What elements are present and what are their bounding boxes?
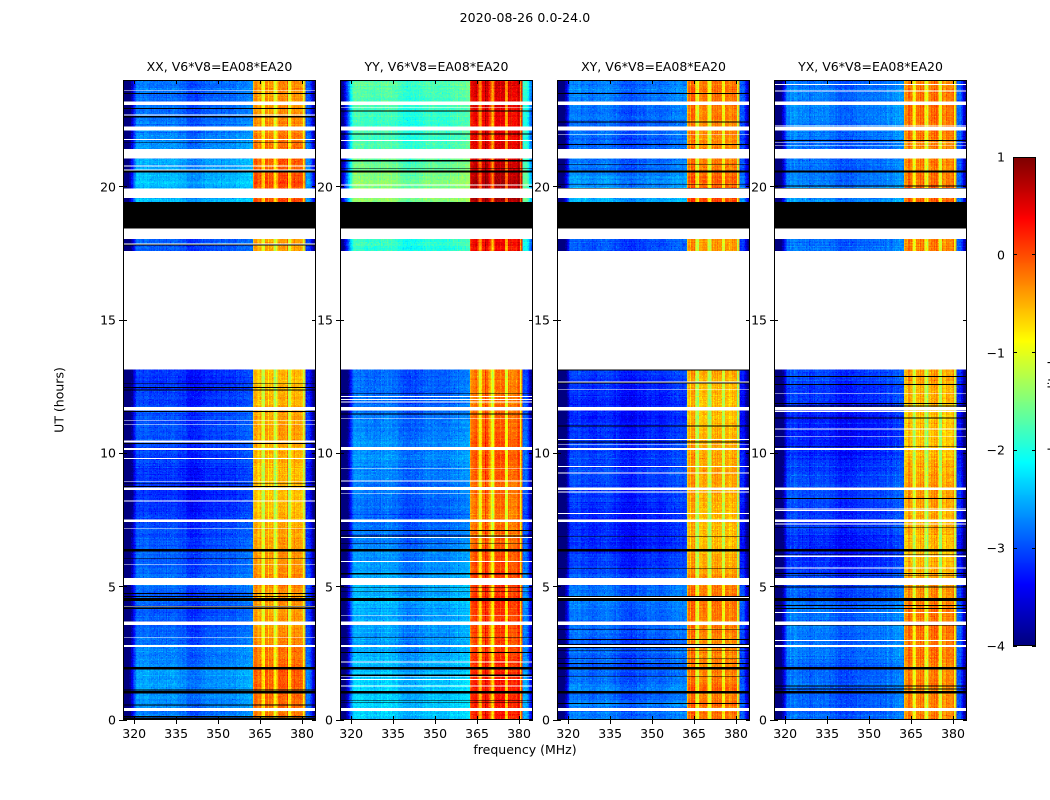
y-tick-label: 15 [100, 313, 116, 328]
x-tick-label: 335 [164, 726, 188, 741]
panel-title-yy: YY, V6*V8=EA08*EA20 [365, 59, 509, 74]
y-tick-label: 0 [759, 713, 767, 728]
x-tick-mark-inner [134, 716, 135, 720]
panel-title-xy: XY, V6*V8=EA08*EA20 [581, 59, 726, 74]
x-tick-mark [652, 720, 653, 724]
colorbar-tick-mark-left [1013, 352, 1017, 353]
y-tick-mark-right [529, 186, 533, 187]
x-tick-mark-top [176, 80, 177, 84]
colorbar-tick-mark-left [1013, 646, 1017, 647]
x-tick-label: 320 [339, 726, 363, 741]
colorbar-tick-label: −1 [987, 345, 1005, 360]
x-tick-mark [694, 720, 695, 724]
y-tick-mark-right [529, 453, 533, 454]
y-tick-mark-inner [774, 320, 778, 321]
colorbar-label: log10 amplitude [1045, 353, 1050, 451]
x-tick-mark-top [953, 80, 954, 84]
y-tick-mark-right [529, 720, 533, 721]
x-tick-label: 365 [248, 726, 272, 741]
y-tick-label: 0 [542, 713, 550, 728]
colorbar-tick-mark-right [1032, 352, 1036, 353]
y-tick-label: 10 [100, 446, 116, 461]
y-tick-mark-right [963, 586, 967, 587]
y-tick-label: 20 [100, 179, 116, 194]
x-tick-mark-top [435, 80, 436, 84]
x-tick-mark [736, 720, 737, 724]
x-tick-mark-inner [260, 716, 261, 720]
y-tick-mark-inner [123, 453, 127, 454]
y-tick-mark-inner [557, 586, 561, 587]
colorbar-tick-mark-left [1013, 450, 1017, 451]
x-tick-label: 380 [724, 726, 748, 741]
y-tick-mark-inner [557, 453, 561, 454]
x-tick-mark [260, 720, 261, 724]
axes-frame [340, 80, 533, 720]
y-tick-mark-inner [340, 586, 344, 587]
x-tick-mark [519, 720, 520, 724]
colorbar-tick-mark-right [1032, 157, 1036, 158]
x-tick-mark [393, 720, 394, 724]
y-tick-mark-right [963, 453, 967, 454]
y-tick-mark-inner [774, 586, 778, 587]
x-tick-label: 350 [640, 726, 664, 741]
x-tick-mark-inner [953, 716, 954, 720]
figure-suptitle: 2020-08-26 0.0-24.0 [0, 10, 1050, 25]
y-tick-mark-right [529, 586, 533, 587]
y-tick-mark-right [312, 186, 316, 187]
y-tick-label: 15 [534, 313, 550, 328]
waterfall-panel-yy[interactable]: YY, V6*V8=EA08*EA20320335350365380051015… [340, 80, 533, 720]
y-axis-label: UT (hours) [51, 367, 66, 433]
colorbar-tick-mark-right [1032, 548, 1036, 549]
x-tick-mark-top [736, 80, 737, 84]
y-tick-label: 0 [108, 713, 116, 728]
x-tick-mark [351, 720, 352, 724]
figure-canvas: 2020-08-26 0.0-24.0 XX, V6*V8=EA08*EA203… [0, 0, 1050, 800]
x-tick-mark-top [351, 80, 352, 84]
x-tick-mark-inner [652, 716, 653, 720]
x-tick-mark [911, 720, 912, 724]
x-tick-mark-top [302, 80, 303, 84]
x-tick-mark-inner [176, 716, 177, 720]
x-tick-mark-top [869, 80, 870, 84]
x-tick-label: 320 [122, 726, 146, 741]
y-tick-mark-inner [123, 720, 127, 721]
x-tick-mark-inner [911, 716, 912, 720]
x-tick-label: 335 [598, 726, 622, 741]
colorbar-tick-label: −3 [987, 541, 1005, 556]
x-tick-mark-inner [519, 716, 520, 720]
y-tick-mark-inner [340, 453, 344, 454]
axes-frame [557, 80, 750, 720]
colorbar-box [1013, 157, 1036, 646]
x-tick-mark-top [694, 80, 695, 84]
x-tick-mark-inner [869, 716, 870, 720]
x-tick-mark [218, 720, 219, 724]
x-axis-label: frequency (MHz) [0, 742, 1050, 757]
x-tick-mark [302, 720, 303, 724]
x-tick-label: 380 [941, 726, 965, 741]
x-tick-mark-inner [736, 716, 737, 720]
x-tick-mark-inner [785, 716, 786, 720]
y-tick-label: 5 [759, 579, 767, 594]
x-tick-mark-inner [610, 716, 611, 720]
y-tick-mark-right [963, 320, 967, 321]
panel-title-xx: XX, V6*V8=EA08*EA20 [147, 59, 293, 74]
colorbar[interactable]: −4−3−2−101 [1013, 157, 1036, 646]
y-tick-label: 0 [325, 713, 333, 728]
y-tick-mark-inner [123, 586, 127, 587]
axes-frame [774, 80, 967, 720]
y-tick-label: 5 [542, 579, 550, 594]
x-tick-mark-inner [435, 716, 436, 720]
y-tick-mark-inner [557, 720, 561, 721]
x-tick-mark-top [393, 80, 394, 84]
x-tick-label: 365 [899, 726, 923, 741]
y-tick-mark-right [529, 320, 533, 321]
x-tick-mark [785, 720, 786, 724]
x-tick-mark-inner [477, 716, 478, 720]
y-tick-mark-right [963, 720, 967, 721]
colorbar-tick-mark-left [1013, 254, 1017, 255]
x-tick-mark [869, 720, 870, 724]
waterfall-image-yy [341, 81, 532, 719]
x-tick-mark [568, 720, 569, 724]
x-tick-mark-top [568, 80, 569, 84]
x-tick-label: 365 [682, 726, 706, 741]
x-tick-label: 335 [381, 726, 405, 741]
colorbar-tick-label: −4 [987, 639, 1005, 654]
x-tick-label: 350 [206, 726, 230, 741]
y-tick-mark-right [963, 186, 967, 187]
y-tick-label: 20 [317, 179, 333, 194]
colorbar-tick-label: −2 [987, 443, 1005, 458]
panel-title-yx: YX, V6*V8=EA08*EA20 [798, 59, 943, 74]
y-tick-mark-right [746, 720, 750, 721]
y-tick-mark-inner [774, 453, 778, 454]
x-tick-mark-top [652, 80, 653, 84]
x-tick-mark-inner [827, 716, 828, 720]
x-tick-label: 350 [423, 726, 447, 741]
x-tick-mark-top [911, 80, 912, 84]
x-tick-label: 320 [773, 726, 797, 741]
x-tick-mark [953, 720, 954, 724]
y-tick-mark-right [312, 720, 316, 721]
y-tick-label: 10 [317, 446, 333, 461]
axes-frame [123, 80, 316, 720]
waterfall-panel-xy[interactable]: XY, V6*V8=EA08*EA20320335350365380051015… [557, 80, 750, 720]
x-tick-mark-top [218, 80, 219, 84]
y-tick-mark-inner [557, 320, 561, 321]
colorbar-tick-mark-right [1032, 646, 1036, 647]
colorbar-tick-mark-right [1032, 450, 1036, 451]
colorbar-tick-label: 0 [997, 247, 1005, 262]
y-tick-label: 5 [108, 579, 116, 594]
x-tick-mark-inner [218, 716, 219, 720]
y-tick-mark-inner [557, 186, 561, 187]
x-tick-mark-top [260, 80, 261, 84]
y-tick-mark-right [312, 320, 316, 321]
x-tick-mark-inner [393, 716, 394, 720]
y-tick-label: 5 [325, 579, 333, 594]
x-tick-mark [610, 720, 611, 724]
x-tick-mark-inner [302, 716, 303, 720]
y-tick-label: 10 [751, 446, 767, 461]
y-tick-label: 20 [534, 179, 550, 194]
y-tick-label: 20 [751, 179, 767, 194]
y-tick-mark-inner [123, 320, 127, 321]
x-tick-label: 320 [556, 726, 580, 741]
x-tick-mark-top [785, 80, 786, 84]
y-tick-mark-right [312, 586, 316, 587]
x-tick-mark-top [134, 80, 135, 84]
y-tick-mark-right [746, 186, 750, 187]
y-tick-label: 15 [317, 313, 333, 328]
x-tick-mark-top [477, 80, 478, 84]
y-tick-mark-inner [340, 720, 344, 721]
x-tick-mark [477, 720, 478, 724]
waterfall-image-yx [775, 81, 966, 719]
y-tick-mark-inner [340, 320, 344, 321]
x-tick-mark-top [519, 80, 520, 84]
colorbar-tick-mark-left [1013, 157, 1017, 158]
y-tick-mark-right [312, 453, 316, 454]
x-tick-label: 380 [290, 726, 314, 741]
y-tick-mark-inner [774, 720, 778, 721]
waterfall-panel-xx[interactable]: XX, V6*V8=EA08*EA20320335350365380051015… [123, 80, 316, 720]
x-tick-mark-top [827, 80, 828, 84]
y-tick-label: 15 [751, 313, 767, 328]
y-tick-mark-inner [123, 186, 127, 187]
x-tick-mark-inner [694, 716, 695, 720]
x-tick-mark [435, 720, 436, 724]
waterfall-image-xy [558, 81, 749, 719]
x-tick-label: 335 [815, 726, 839, 741]
y-tick-mark-inner [774, 186, 778, 187]
y-tick-mark-right [746, 320, 750, 321]
x-tick-mark [827, 720, 828, 724]
x-tick-label: 350 [857, 726, 881, 741]
y-tick-mark-right [746, 586, 750, 587]
colorbar-gradient [1014, 158, 1035, 645]
x-tick-mark-top [610, 80, 611, 84]
waterfall-panel-yx[interactable]: YX, V6*V8=EA08*EA20320335350365380051015… [774, 80, 967, 720]
x-tick-label: 365 [465, 726, 489, 741]
x-tick-mark-inner [351, 716, 352, 720]
colorbar-tick-label: 1 [997, 150, 1005, 165]
colorbar-tick-mark-right [1032, 254, 1036, 255]
colorbar-tick-mark-left [1013, 548, 1017, 549]
x-tick-mark-inner [568, 716, 569, 720]
y-tick-mark-right [746, 453, 750, 454]
y-tick-label: 10 [534, 446, 550, 461]
waterfall-image-xx [124, 81, 315, 719]
y-tick-mark-inner [340, 186, 344, 187]
x-tick-mark [134, 720, 135, 724]
x-tick-label: 380 [507, 726, 531, 741]
x-tick-mark [176, 720, 177, 724]
